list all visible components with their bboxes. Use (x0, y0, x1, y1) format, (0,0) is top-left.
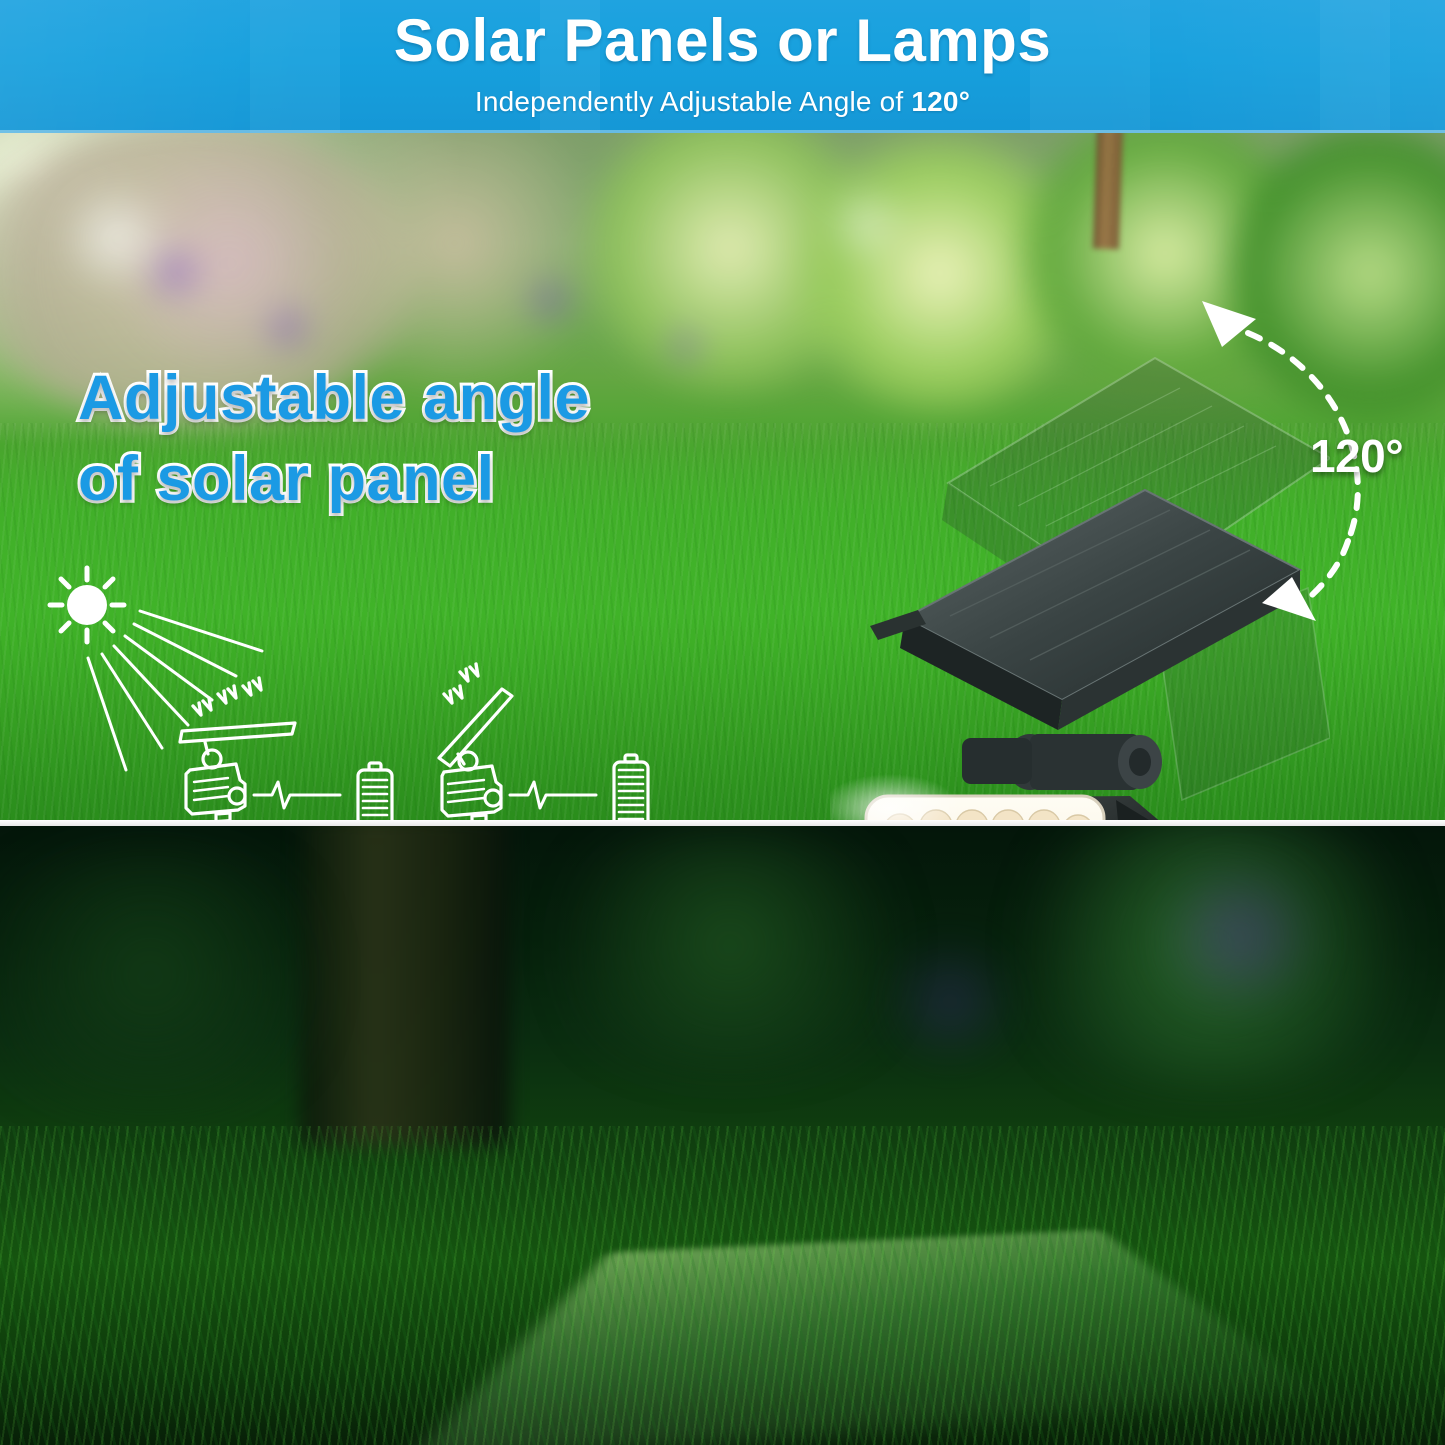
top-section-heading: Adjustable angle of solar panel (78, 358, 778, 519)
chevron-down-arrows-icon (193, 678, 261, 715)
solar-lamp-flat-panel-icon (180, 723, 295, 820)
pulse-line-icon (254, 782, 340, 808)
solar-lamp-tilted-panel-icon (439, 689, 512, 820)
top-heading-line-2: of solar panel (78, 439, 778, 520)
banner-subtitle: Independently Adjustable Angle of 120° (0, 86, 1445, 118)
header-banner: Solar Panels or Lamps Independently Adju… (0, 0, 1445, 133)
arrow-head-up-icon (1202, 301, 1256, 347)
chevron-down-arrows-icon (444, 664, 478, 703)
banner-subtitle-text: Independently Adjustable Angle of (475, 86, 911, 117)
sun-icon (50, 568, 124, 642)
battery-icon (614, 755, 648, 820)
angle-label-top: 120° (1310, 429, 1403, 483)
panel-hinge (962, 734, 1162, 790)
arrow-head-down-icon (1262, 577, 1316, 621)
grass-texture-night (0, 1126, 1445, 1445)
banner-subtitle-angle: 120° (911, 86, 970, 117)
banner-title: Solar Panels or Lamps (0, 6, 1445, 75)
battery-icon (358, 763, 392, 820)
charging-infographic (40, 558, 680, 820)
wooden-post (1093, 133, 1123, 249)
top-garden-scene: Adjustable angle of solar panel (0, 133, 1445, 820)
product-infographic-page: Solar Panels or Lamps Independently Adju… (0, 0, 1445, 1445)
top-heading-line-1: Adjustable angle (78, 358, 778, 439)
bottom-night-scene: Adjustable angle of lamp (0, 826, 1445, 1445)
pulse-line-icon (510, 782, 596, 808)
